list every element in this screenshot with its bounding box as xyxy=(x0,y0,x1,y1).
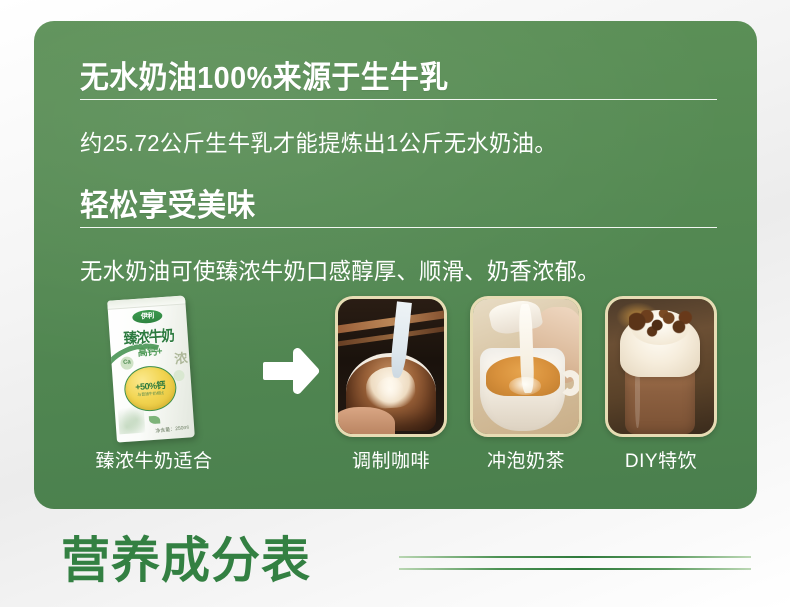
banner-rule-top xyxy=(399,556,751,558)
caption-coffee: 调制咖啡 xyxy=(335,446,447,473)
section-2-heading: 轻松享受美味 xyxy=(80,180,256,225)
carton-volume-text: 净含量：250ml xyxy=(155,425,189,436)
carton-grass-decor xyxy=(117,399,145,435)
feature-panel: 无水奶油100%来源于生牛乳 约25.72公斤生牛乳才能提炼出1公斤无水奶油。 … xyxy=(34,21,757,509)
panel-content: 无水奶油100%来源于生牛乳 约25.72公斤生牛乳才能提炼出1公斤无水奶油。 … xyxy=(80,21,717,509)
section-2-divider xyxy=(80,227,717,228)
arrow-right-icon xyxy=(263,348,321,394)
section-1-heading: 无水奶油100%来源于生牛乳 xyxy=(80,52,449,97)
usage-row: 伊利 臻浓牛奶 高钙+ Ca 浓 +50%钙 与普通牛奶相比 净含量：250ml xyxy=(80,291,740,491)
usage-photo-coffee xyxy=(335,296,447,437)
section-2-body: 无水奶油可使臻浓牛奶口感醇厚、顺滑、奶香浓郁。 xyxy=(80,252,600,286)
carton-top-seam xyxy=(107,295,185,309)
caption-milk-tea: 冲泡奶茶 xyxy=(470,446,582,473)
caption-product: 臻浓牛奶适合 xyxy=(70,446,238,473)
usage-photo-milk-tea xyxy=(470,296,582,437)
caption-diy-drink: DIY特饮 xyxy=(605,446,717,473)
section-1-body: 约25.72公斤生牛乳才能提炼出1公斤无水奶油。 xyxy=(80,124,557,158)
nutrition-table-title: 营养成分表 xyxy=(61,521,311,592)
bottom-banner: 营养成分表 xyxy=(0,512,790,607)
milk-carton: 伊利 臻浓牛奶 高钙+ Ca 浓 +50%钙 与普通牛奶相比 净含量：250ml xyxy=(107,295,195,442)
banner-rule-bottom xyxy=(399,568,751,570)
usage-photo-diy-drink xyxy=(605,296,717,437)
leaf-icon xyxy=(149,416,161,425)
carton-side-text: 浓 xyxy=(173,347,189,368)
yili-brand-logo: 伊利 xyxy=(132,309,163,324)
section-1-divider xyxy=(80,99,717,100)
product-package: 伊利 臻浓牛奶 高钙+ Ca 浓 +50%钙 与普通牛奶相比 净含量：250ml xyxy=(100,296,208,448)
